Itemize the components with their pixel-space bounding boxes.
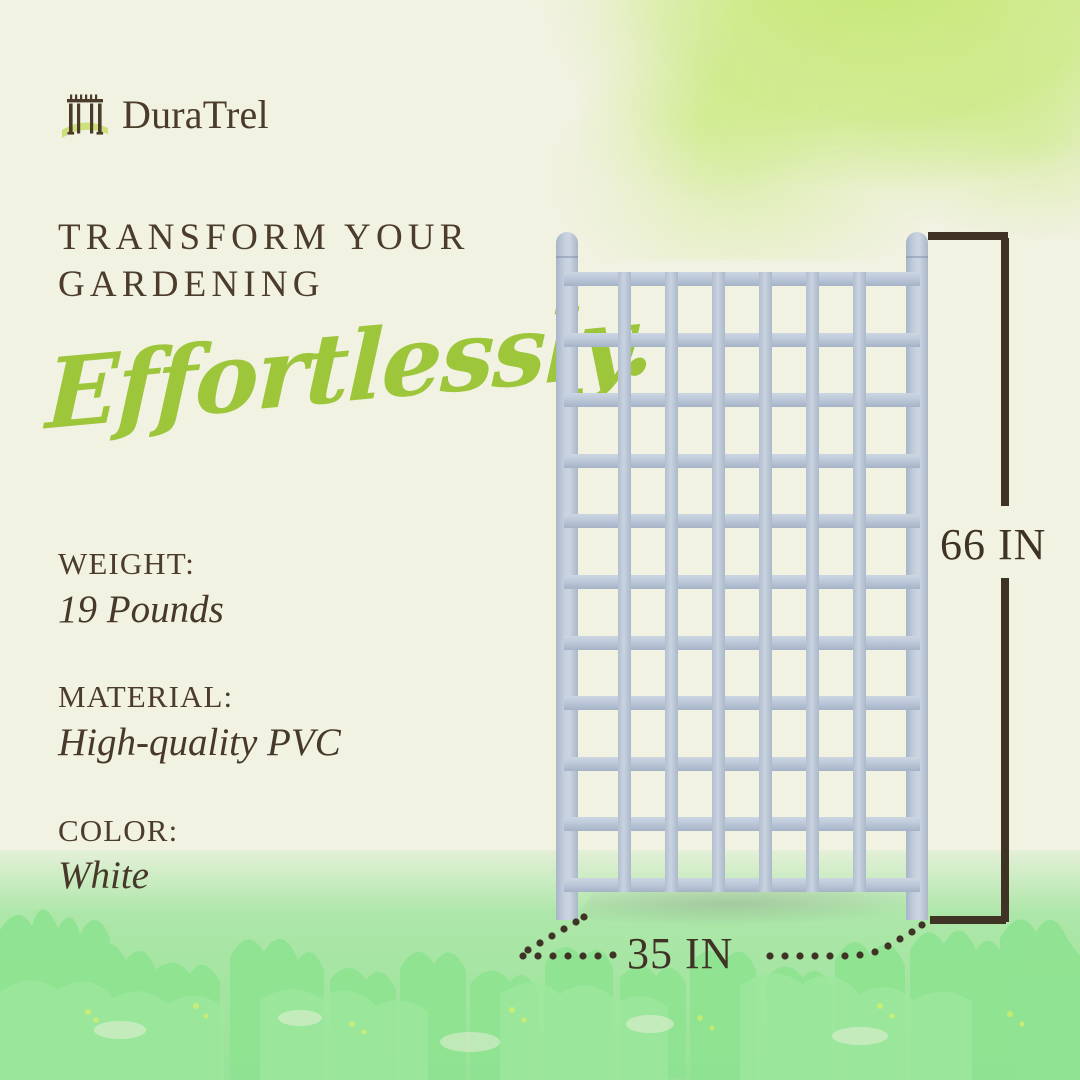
trellis-slat	[853, 272, 866, 892]
watercolor-wash-accent	[580, 0, 1040, 240]
spec-value: High-quality PVC	[58, 718, 488, 769]
marketing-graphic: DuraTrel TRANSFORM YOUR GARDENING Effort…	[0, 0, 1080, 1080]
spec-label: WEIGHT:	[58, 546, 488, 583]
brand-logo: DuraTrel	[58, 88, 269, 142]
trellis-slat	[618, 272, 631, 892]
dimension-guide-right-upper	[1001, 238, 1009, 506]
spec-label: COLOR:	[58, 813, 488, 850]
dimension-guide-bottom-right	[930, 916, 1006, 924]
trellis-slat	[712, 272, 725, 892]
trellis-slat	[665, 272, 678, 892]
spec-item-color: COLOR: White	[58, 813, 488, 902]
brand-name: DuraTrel	[122, 95, 269, 135]
page-title: TRANSFORM YOUR GARDENING	[58, 214, 528, 309]
dimension-height-label: 66 IN	[940, 519, 1046, 570]
product-specs: WEIGHT: 19 Pounds MATERIAL: High-quality…	[58, 546, 488, 946]
dimension-guide-top	[928, 232, 1008, 240]
headline-line-1: TRANSFORM YOUR	[58, 214, 528, 261]
trellis-slat	[759, 272, 772, 892]
spec-label: MATERIAL:	[58, 679, 488, 716]
dimension-guide-right-lower	[1001, 578, 1009, 922]
spec-item-weight: WEIGHT: 19 Pounds	[58, 546, 488, 635]
watercolor-wash-top-right	[530, 0, 1080, 260]
spec-value: White	[58, 851, 488, 902]
pergola-arbor-icon	[58, 88, 112, 142]
spec-item-material: MATERIAL: High-quality PVC	[58, 679, 488, 768]
product-image-garden-trellis	[556, 232, 928, 920]
dimension-width-label: 35 IN	[627, 928, 733, 979]
trellis-slat	[806, 272, 819, 892]
spec-value: 19 Pounds	[58, 585, 488, 636]
